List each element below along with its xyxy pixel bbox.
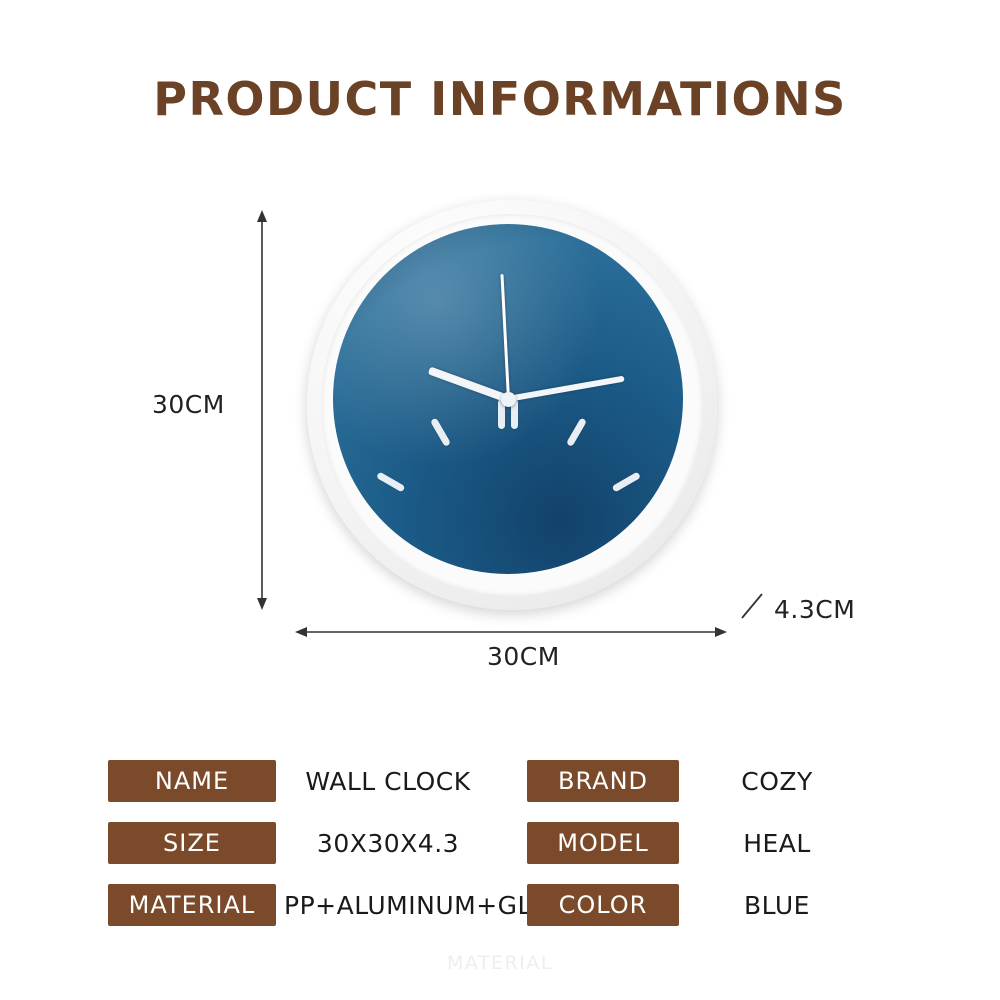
clock-tick-3 [629,547,659,554]
table-row: MATERIAL PP+ALUMINUM+GLASS COLOR BLUE [0,874,1000,936]
clock-center-cap [501,392,516,407]
spec-key-color: COLOR [527,884,679,926]
clock-second-hand [500,274,509,399]
watermark-text: MATERIAL [0,952,1000,974]
spec-key-name: NAME [108,760,276,802]
product-figure: 30CM 30CM 4.3CM [0,180,1000,700]
clock-tick-10 [375,471,404,492]
clock-tick-1 [565,417,586,446]
wall-clock-image [307,200,717,610]
spec-pair-name: NAME WALL CLOCK [0,760,500,802]
clock-hour-hand [428,367,510,403]
spec-key-material: MATERIAL [108,884,276,926]
dimension-depth-label: 4.3CM [774,595,855,624]
clock-face [333,224,683,574]
spec-value-color: BLUE [687,891,867,920]
clock-tick-11 [429,417,450,446]
spec-value-material: PP+ALUMINUM+GLASS [284,891,492,920]
table-row: NAME WALL CLOCK BRAND COZY [0,750,1000,812]
spec-pair-material: MATERIAL PP+ALUMINUM+GLASS [0,884,500,926]
spec-pair-brand: BRAND COZY [500,760,1000,802]
spec-value-size: 30X30X4.3 [284,829,492,858]
table-row: SIZE 30X30X4.3 MODEL HEAL [0,812,1000,874]
page-title: PRODUCT INFORMATIONS [0,72,1000,126]
spec-value-name: WALL CLOCK [284,767,492,796]
clock-tick-9 [357,547,387,554]
dimension-width-label: 30CM [487,642,560,671]
clock-minute-hand [507,376,624,402]
specification-table: NAME WALL CLOCK BRAND COZY SIZE 30X30X4.… [0,750,1000,936]
spec-key-size: SIZE [108,822,276,864]
clock-tick-2 [611,471,640,492]
dimension-height-label: 30CM [152,390,225,419]
spec-pair-size: SIZE 30X30X4.3 [0,822,500,864]
spec-key-brand: BRAND [527,760,679,802]
spec-pair-color: COLOR BLUE [500,884,1000,926]
spec-pair-model: MODEL HEAL [500,822,1000,864]
spec-value-brand: COZY [687,767,867,796]
spec-value-model: HEAL [687,829,867,858]
spec-key-model: MODEL [527,822,679,864]
